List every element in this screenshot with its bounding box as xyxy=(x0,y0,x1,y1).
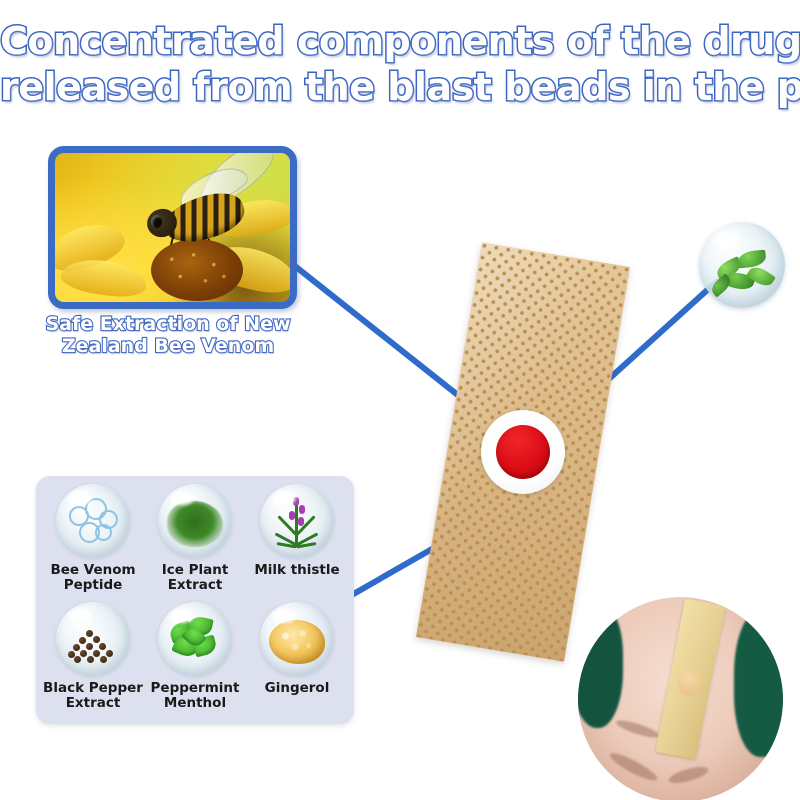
ice-plant-extract-bubble xyxy=(158,484,232,558)
molecule-icon xyxy=(67,498,119,544)
ingredient-milk-thistle: Milk thistle xyxy=(246,484,348,602)
headline-line-1: Concentrated components of the drug are xyxy=(0,18,800,64)
ingredient-peppermint-menthol: Peppermint Menthol xyxy=(144,602,246,720)
flower-center-disc xyxy=(151,239,243,301)
green-fabric-left xyxy=(578,605,623,728)
ingredient-label-line-1: Milk thistle xyxy=(254,563,339,578)
bee-venom-caption: Safe Extraction of New Zealand Bee Venom xyxy=(34,313,302,357)
ingredient-label-line-1: Peppermint xyxy=(151,681,240,696)
honeybee-photo xyxy=(55,153,290,302)
ingredient-label-line-2: Menthol xyxy=(151,696,240,711)
mint-leaves-icon xyxy=(168,617,222,663)
bee-venom-photo-card xyxy=(48,146,297,309)
green-herb-extract-bubble xyxy=(699,222,785,308)
page-title: Concentrated components of the drug are … xyxy=(0,18,800,110)
bee-caption-line-1: Safe Extraction of New xyxy=(34,313,302,335)
ingredients-panel: Bee Venom Peptide Ice Plant Extract xyxy=(36,476,354,724)
milk-thistle-bubble xyxy=(260,484,334,558)
ingredient-black-pepper-extract: Black Pepper Extract xyxy=(42,602,144,720)
ingredient-bee-venom-peptide: Bee Venom Peptide xyxy=(42,484,144,602)
ingredient-label: Gingerol xyxy=(265,681,330,696)
ingredient-label-line-1: Ice Plant xyxy=(162,563,229,578)
peppermint-menthol-bubble xyxy=(158,602,232,676)
gingerol-bubble xyxy=(260,602,334,676)
ingredient-label: Bee Venom Peptide xyxy=(50,563,135,593)
ingredient-label-line-2: Extract xyxy=(43,696,143,711)
ingredient-label-line-2: Extract xyxy=(162,578,229,593)
patch-strip xyxy=(416,242,630,661)
headline-line-2: released from the blast beads in the pat… xyxy=(0,64,800,110)
ingredient-label-line-1: Black Pepper xyxy=(43,681,143,696)
bee-eye-icon xyxy=(151,215,162,228)
ingredient-label-line-1: Bee Venom xyxy=(50,563,135,578)
black-pepper-extract-bubble xyxy=(56,602,130,676)
peppercorns-icon xyxy=(68,630,118,660)
thistle-plant-icon xyxy=(271,495,323,549)
product-infographic-canvas: Concentrated components of the drug are … xyxy=(0,0,800,800)
red-blast-bead xyxy=(492,421,554,483)
applied-patch-bead xyxy=(676,666,704,698)
ingredient-label-line-2: Peptide xyxy=(50,578,135,593)
ingredient-label: Milk thistle xyxy=(254,563,339,578)
green-leaves-icon xyxy=(167,501,223,547)
ginger-powder-icon xyxy=(269,620,325,664)
ingredient-label: Peppermint Menthol xyxy=(151,681,240,711)
green-fabric-right xyxy=(734,609,783,757)
ingredient-ice-plant-extract: Ice Plant Extract xyxy=(144,484,246,602)
patch-applied-to-knee-photo xyxy=(578,597,783,800)
ingredient-label-line-1: Gingerol xyxy=(265,681,330,696)
bee-caption-line-2: Zealand Bee Venom xyxy=(34,335,302,357)
ingredient-label: Black Pepper Extract xyxy=(43,681,143,711)
ingredients-grid: Bee Venom Peptide Ice Plant Extract xyxy=(36,476,354,724)
bee-venom-peptide-bubble xyxy=(56,484,130,558)
ingredient-gingerol: Gingerol xyxy=(246,602,348,720)
ingredient-label: Ice Plant Extract xyxy=(162,563,229,593)
